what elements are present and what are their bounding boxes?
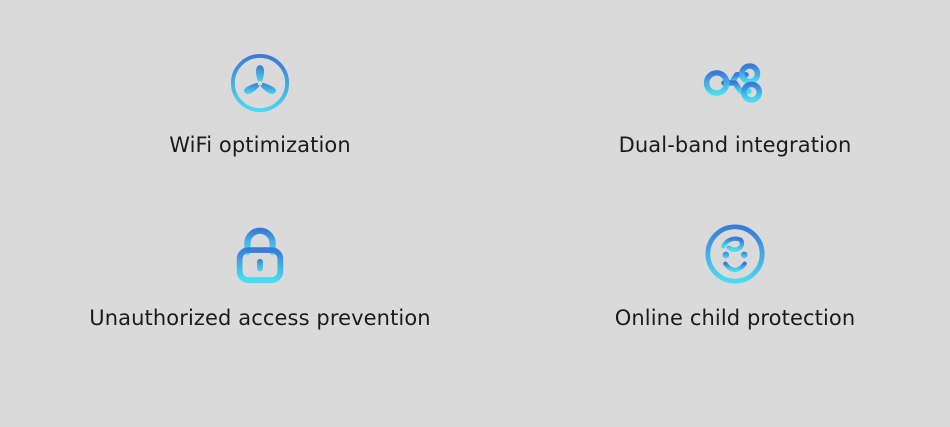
feature-label: Dual-band integration — [619, 132, 852, 158]
feature-label: Unauthorized access prevention — [89, 305, 430, 331]
feature-item-unauthorized-access-prevention: Unauthorized access prevention — [0, 201, 520, 427]
feature-label: Online child protection — [615, 305, 856, 331]
feature-item-wifi-optimization: WiFi optimization — [0, 0, 520, 201]
padlock-icon — [227, 221, 293, 287]
feature-item-dual-band-integration: Dual-band integration — [520, 0, 950, 201]
share-network-icon — [702, 50, 768, 116]
feature-label: WiFi optimization — [169, 132, 351, 158]
propeller-circle-icon — [227, 50, 293, 116]
child-face-icon — [702, 221, 768, 287]
feature-item-online-child-protection: Online child protection — [520, 201, 950, 427]
feature-grid: WiFi optimization — [0, 0, 950, 427]
